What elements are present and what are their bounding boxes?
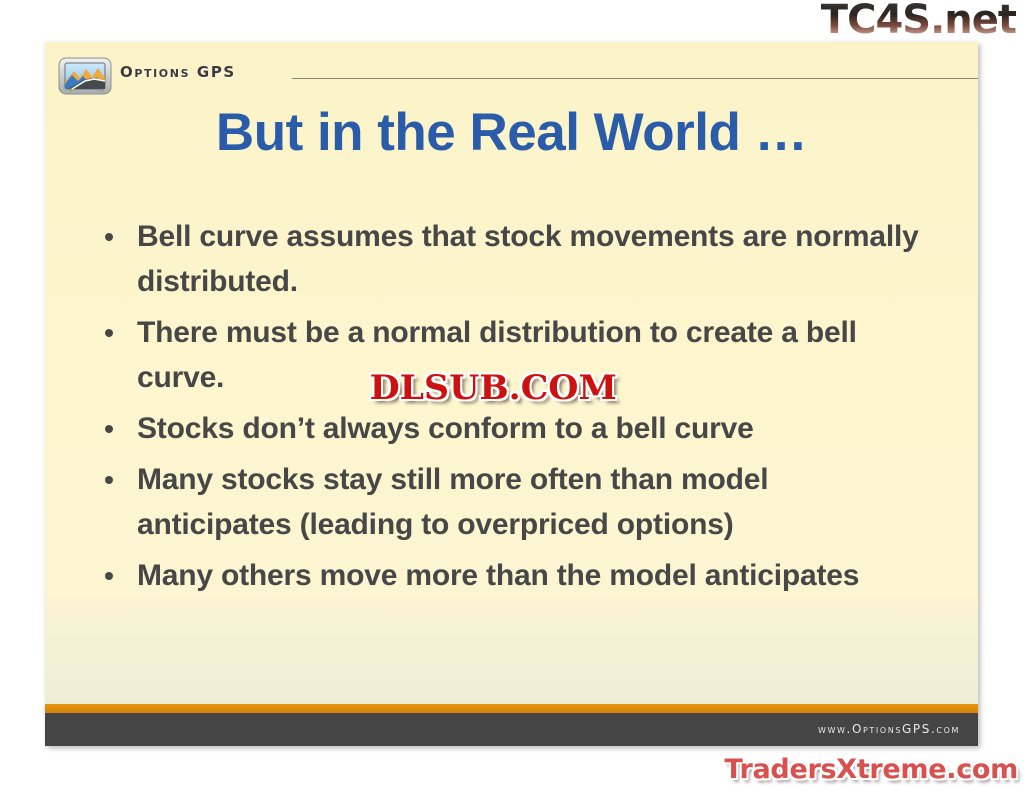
list-item: Stocks don’t always conform to a bell cu… [97, 406, 927, 451]
tc4s-watermark: TC4S.net [821, 0, 1016, 42]
list-item-text: Many stocks stay still more often than m… [137, 463, 768, 541]
footer-url: www.OptionsGPS.com [818, 722, 960, 736]
slide-header: Options GPS [45, 42, 978, 100]
list-item: Many others move more than the model ant… [97, 553, 927, 598]
header-divider [292, 78, 978, 79]
bullet-dot-icon [105, 233, 113, 241]
slide-footer: www.OptionsGPS.com [45, 713, 978, 746]
list-item-text: Many others move more than the model ant… [137, 559, 859, 592]
accent-bar [45, 704, 978, 713]
page-title: But in the Real World … [45, 102, 978, 163]
bullet-dot-icon [105, 425, 113, 433]
list-item: Many stocks stay still more often than m… [97, 457, 927, 547]
bullet-dot-icon [105, 329, 113, 337]
tradersxtreme-watermark: TradersXtreme.com [724, 754, 1018, 785]
bullet-dot-icon [105, 476, 113, 484]
dlsub-watermark: DLSUB.COM [370, 368, 617, 408]
brand-name: Options GPS [120, 63, 236, 81]
list-item-text: Stocks don’t always conform to a bell cu… [137, 412, 754, 445]
bullet-dot-icon [105, 572, 113, 580]
list-item-text: Bell curve assumes that stock movements … [137, 220, 919, 298]
bullet-list: Bell curve assumes that stock movements … [97, 214, 927, 604]
gps-device-icon [58, 56, 112, 96]
list-item: Bell curve assumes that stock movements … [97, 214, 927, 304]
